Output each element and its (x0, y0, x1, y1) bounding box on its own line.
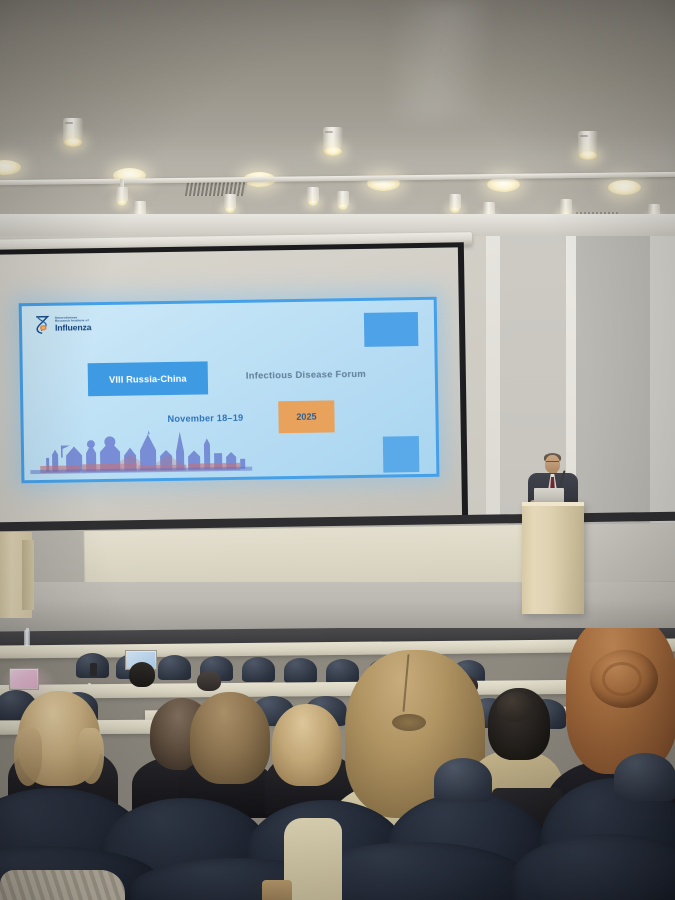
auditorium-seat[interactable] (434, 758, 492, 802)
track-spotlight-icon (337, 191, 349, 207)
knitted-garment (0, 870, 125, 900)
audience-head (129, 662, 155, 687)
auditorium-seat[interactable] (284, 658, 317, 683)
slide-canvas: Smorodintsev Research Institute of Influ… (22, 300, 437, 480)
ceiling-recessed-light-icon (608, 180, 641, 195)
audience-head-brunette (190, 692, 270, 784)
water-bottle (24, 630, 30, 646)
hair-bun-swirl (602, 662, 642, 696)
track-spotlight-icon (449, 194, 461, 210)
audience-phone[interactable] (90, 663, 97, 676)
audience-head (197, 671, 221, 691)
audience-area (0, 628, 675, 900)
wall-soffit (0, 214, 675, 236)
slide-event-title: VIII Russia-China (109, 373, 187, 384)
podium-laptop (534, 488, 564, 503)
track-spotlight-icon (307, 187, 319, 203)
slide-title-box: VIII Russia-China (88, 361, 209, 396)
projection-screen: Smorodintsev Research Institute of Influ… (0, 242, 468, 529)
projection-screen-surface: Smorodintsev Research Institute of Influ… (0, 247, 462, 525)
audience-hair-strand (78, 728, 104, 784)
logo-institute-name: Influenza (55, 323, 91, 332)
auditorium-photo: Smorodintsev Research Institute of Influ… (0, 0, 675, 900)
track-spotlight-icon (116, 187, 128, 203)
speaker-glasses-icon (546, 461, 559, 464)
slide-event-year: 2025 (296, 412, 316, 422)
track-spotlight-icon (560, 199, 572, 215)
auditorium-seat[interactable] (242, 657, 275, 682)
ceiling-downlight-icon (323, 127, 343, 152)
audience-hair-strand (14, 728, 42, 786)
auditorium-seat[interactable] (326, 659, 359, 684)
slide-event-dates: November 18–19 (167, 413, 243, 424)
hair-bun-small (497, 692, 533, 722)
auditorium-seat[interactable] (158, 655, 191, 680)
ceiling-vent-grille (185, 182, 247, 196)
city-skyline-graphic (30, 429, 253, 476)
logo-text-block: Smorodintsev Research Institute of Influ… (55, 317, 92, 333)
slide-year-box: 2025 (278, 400, 334, 433)
seat-armrest (262, 880, 292, 900)
ceiling-downlight-icon (578, 131, 598, 156)
audience-garment (284, 818, 342, 900)
speaker-podium (522, 502, 584, 614)
audience-head-blonde (272, 704, 342, 786)
track-spotlight-icon (224, 194, 236, 210)
institute-logo: Smorodintsev Research Institute of Influ… (33, 314, 92, 335)
secondary-podium-side (22, 540, 34, 610)
ceiling-recessed-light-icon (487, 177, 520, 192)
hair-tie-knot (392, 714, 426, 731)
ceiling-downlight-icon (63, 118, 83, 143)
dna-flask-icon (33, 315, 51, 335)
slide-decor-block-bottom-right (383, 436, 420, 473)
ceiling-sheen (392, 0, 487, 120)
slide-decor-block-top-right (364, 312, 419, 347)
slide-event-subtitle: Infectious Disease Forum (246, 368, 366, 381)
auditorium-seat[interactable] (614, 753, 675, 801)
presentation-slide: Smorodintsev Research Institute of Influ… (19, 297, 440, 484)
